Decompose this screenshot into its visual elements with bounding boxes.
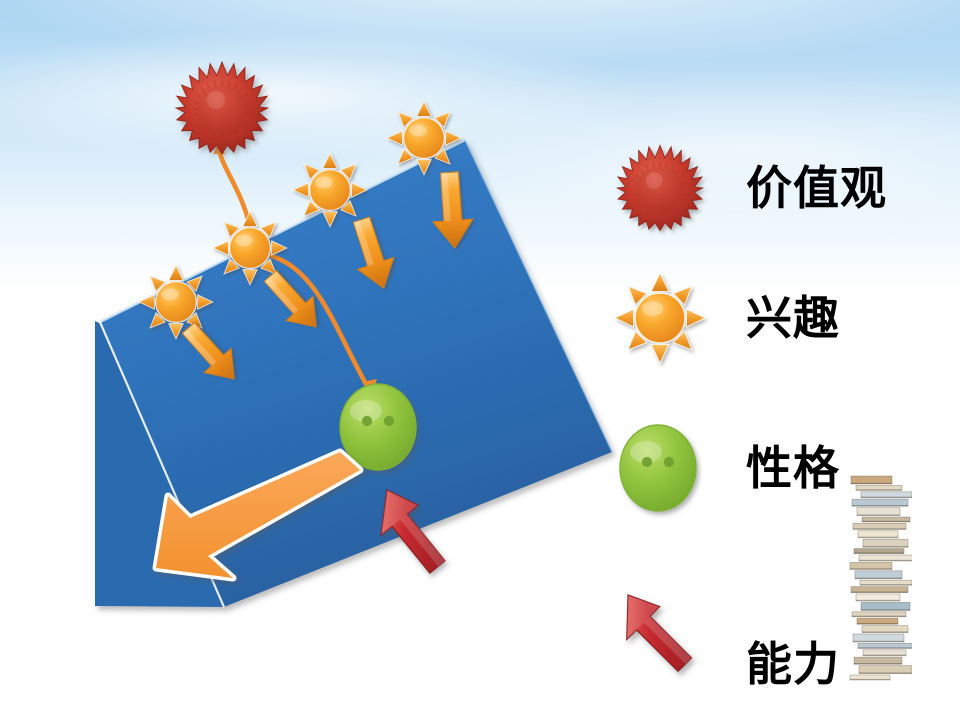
legend-item-personality[interactable]: 性格	[610, 418, 840, 518]
sun-icon-4	[387, 101, 461, 175]
legend-label-personality: 性格	[746, 445, 840, 491]
red-starburst-icon	[176, 62, 268, 154]
diagram-canvas: 价值观	[0, 0, 960, 720]
legend-label-interest: 兴趣	[746, 295, 840, 341]
sun-icon	[610, 268, 710, 368]
sun-icon-3	[293, 153, 367, 227]
green-face-icon	[340, 384, 416, 470]
red-starburst-icon	[610, 138, 710, 238]
sun-icon-1	[139, 265, 213, 339]
legend-label-ability: 能力	[746, 641, 840, 687]
red-arrow-up-icon	[610, 581, 710, 681]
green-face-icon	[610, 418, 710, 518]
legend-item-ability[interactable]: 能力	[610, 575, 840, 687]
legend-item-interest[interactable]: 兴趣	[610, 268, 840, 368]
stack-of-books	[846, 452, 912, 684]
legend-item-values[interactable]: 价值观	[610, 138, 887, 238]
legend-label-values: 价值观	[746, 165, 887, 211]
